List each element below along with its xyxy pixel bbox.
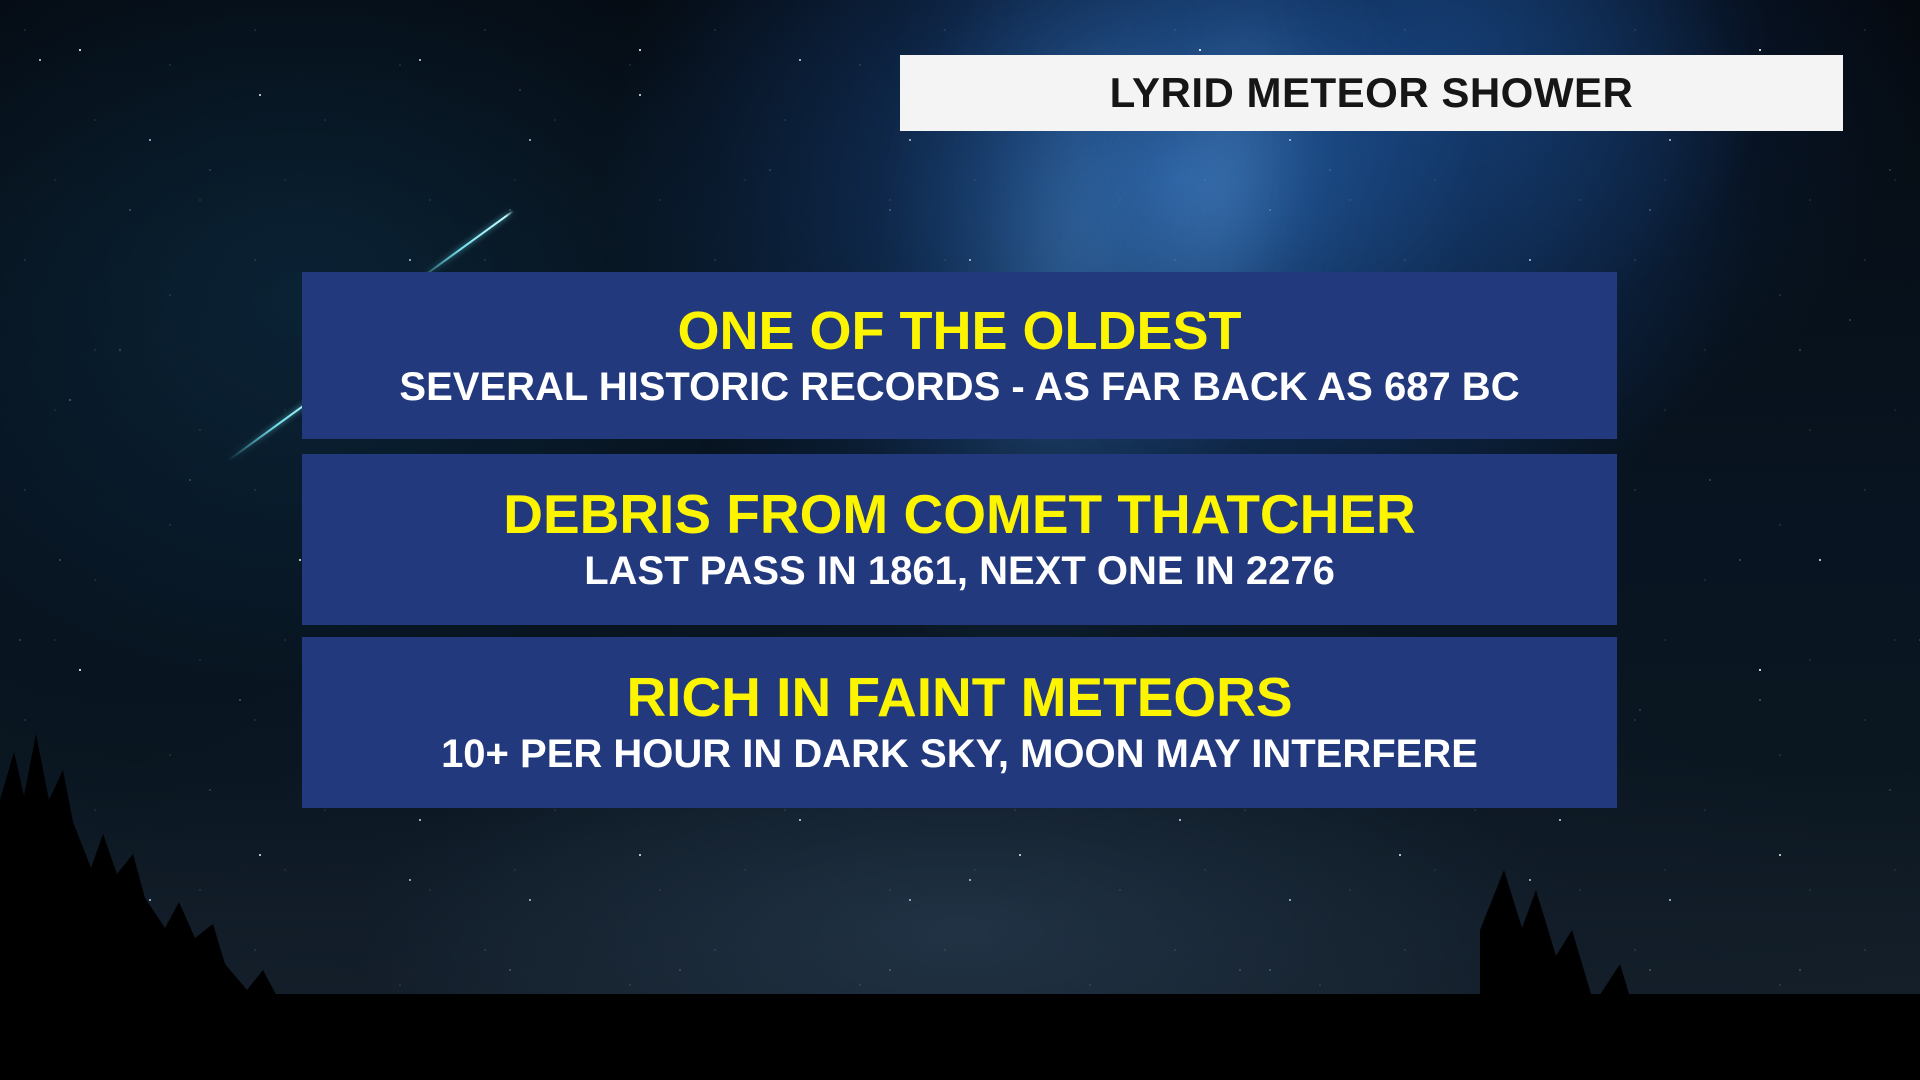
fact-card-subtext: SEVERAL HISTORIC RECORDS - AS FAR BACK A…	[399, 367, 1519, 409]
fact-card-subtext: 10+ PER HOUR IN DARK SKY, MOON MAY INTER…	[441, 734, 1478, 776]
fact-card-heading: RICH IN FAINT METEORS	[626, 669, 1292, 726]
title-banner: LYRID METEOR SHOWER	[900, 55, 1843, 131]
infographic-stage: LYRID METEOR SHOWER ONE OF THE OLDEST SE…	[0, 0, 1920, 1080]
fact-card-subtext: LAST PASS IN 1861, NEXT ONE IN 2276	[584, 551, 1335, 593]
foreground-ground	[0, 994, 1920, 1080]
fact-card-heading: ONE OF THE OLDEST	[677, 303, 1241, 359]
fact-card: RICH IN FAINT METEORS 10+ PER HOUR IN DA…	[302, 637, 1617, 808]
fact-card: ONE OF THE OLDEST SEVERAL HISTORIC RECOR…	[302, 272, 1617, 439]
page-title: LYRID METEOR SHOWER	[1110, 69, 1634, 117]
fact-card-heading: DEBRIS FROM COMET THATCHER	[503, 486, 1416, 543]
fact-card: DEBRIS FROM COMET THATCHER LAST PASS IN …	[302, 454, 1617, 625]
